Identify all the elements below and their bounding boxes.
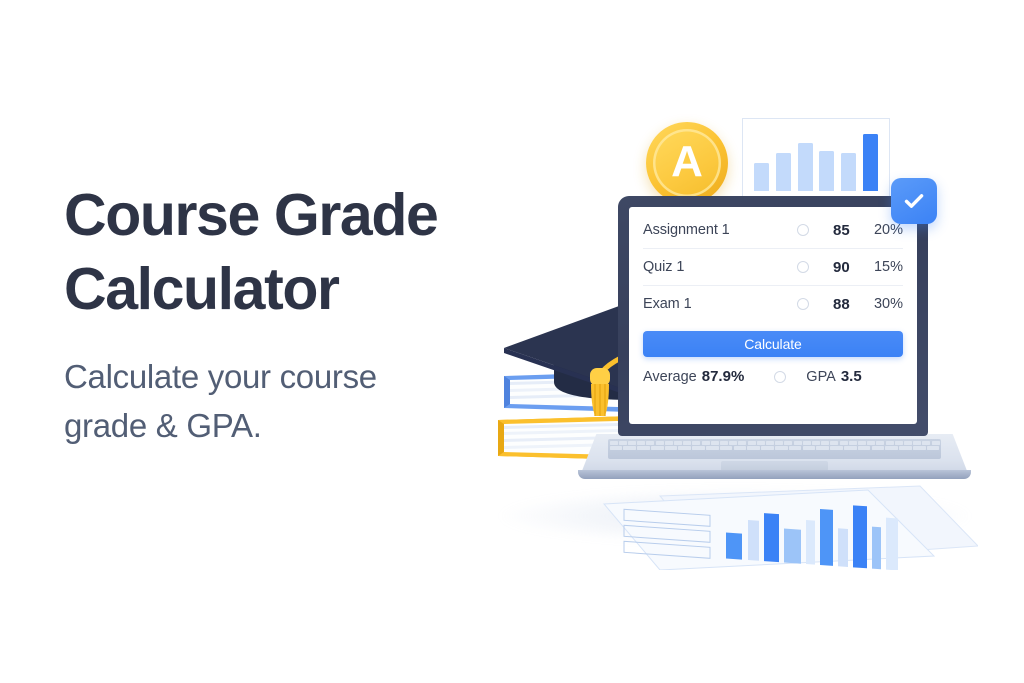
- keyboard-key: [830, 446, 843, 450]
- chart-bar: [819, 151, 834, 191]
- table-row[interactable]: Assignment 1 85 20%: [643, 212, 903, 249]
- hero-illustration: Assignment 1 85 20% Quiz 1 90 15% Exam 1…: [430, 96, 1024, 596]
- keyboard-key: [789, 446, 802, 450]
- keyboard-key: [706, 446, 719, 450]
- keyboard-key: [711, 441, 719, 445]
- keyboard-key: [895, 441, 903, 445]
- chart-bar: [776, 153, 791, 191]
- grade-letter: A: [671, 140, 703, 184]
- keyboard-key: [886, 441, 894, 445]
- keyboard-key: [872, 446, 885, 450]
- bar-chart-plot: [754, 129, 878, 191]
- keyboard-key: [619, 441, 627, 445]
- keyboard-key: [720, 446, 733, 450]
- calculate-button[interactable]: Calculate: [643, 331, 903, 357]
- keyboard-key: [628, 441, 636, 445]
- row-select-radio[interactable]: [797, 224, 809, 236]
- keyboard-key: [858, 441, 866, 445]
- gpa-value: 3.5: [841, 368, 862, 385]
- row-score-value[interactable]: 88: [833, 296, 863, 313]
- keyboard-key: [816, 446, 829, 450]
- grade-coin-icon: A: [646, 122, 728, 204]
- row-item-label: Exam 1: [643, 296, 797, 312]
- chart-bar: [798, 143, 813, 191]
- keyboard-key: [761, 446, 774, 450]
- keyboard-key: [885, 446, 898, 450]
- keyboard-key: [876, 441, 884, 445]
- chart-bar: [754, 163, 769, 191]
- keyboard-key: [692, 446, 705, 450]
- laptop-base-lip: [578, 470, 971, 479]
- laptop-keyboard: [608, 439, 941, 459]
- keyboard-key: [720, 441, 728, 445]
- keyboard-key: [830, 441, 838, 445]
- keyboard-key: [913, 446, 926, 450]
- keyboard-key: [656, 441, 664, 445]
- keyboard-key: [775, 441, 783, 445]
- result-select-radio[interactable]: [774, 371, 786, 383]
- grade-coin-inner: A: [653, 129, 721, 197]
- row-item-label: Assignment 1: [643, 222, 797, 238]
- calculator-screen: Assignment 1 85 20% Quiz 1 90 15% Exam 1…: [629, 207, 917, 424]
- keyboard-key: [784, 441, 792, 445]
- keyboard-key: [748, 441, 756, 445]
- keyboard-key: [678, 446, 691, 450]
- keyboard-key: [674, 441, 682, 445]
- keyboard-key: [812, 441, 820, 445]
- keyboard-key: [651, 446, 664, 450]
- keyboard-key: [665, 446, 678, 450]
- keyboard-key: [637, 446, 650, 450]
- row-weight-value[interactable]: 15%: [863, 259, 903, 275]
- keyboard-key: [821, 441, 829, 445]
- keyboard-key: [637, 441, 645, 445]
- keyboard-key: [803, 446, 816, 450]
- keyboard-key: [849, 441, 857, 445]
- keyboard-key: [610, 441, 618, 445]
- keyboard-key: [692, 441, 700, 445]
- laptop-lid: Assignment 1 85 20% Quiz 1 90 15% Exam 1…: [618, 196, 928, 436]
- keyboard-key: [734, 446, 747, 450]
- keyboard-key: [646, 441, 654, 445]
- row-select-radio[interactable]: [797, 298, 809, 310]
- keyboard-key: [702, 441, 710, 445]
- row-item-label: Quiz 1: [643, 259, 797, 275]
- check-icon: [891, 178, 937, 224]
- average-label: Average: [643, 369, 697, 385]
- keyboard-key: [803, 441, 811, 445]
- keyboard-key: [729, 441, 737, 445]
- keyboard-key: [927, 446, 940, 450]
- keyboard-key: [899, 446, 912, 450]
- row-weight-value[interactable]: 30%: [863, 296, 903, 312]
- table-row[interactable]: Exam 1 88 30%: [643, 286, 903, 322]
- gpa-label: GPA: [806, 369, 836, 385]
- keyboard-key: [665, 441, 673, 445]
- keyboard-key: [840, 441, 848, 445]
- keyboard-key: [683, 441, 691, 445]
- row-weight-value[interactable]: 20%: [863, 222, 903, 238]
- keyboard-key: [932, 441, 940, 445]
- keyboard-key: [867, 441, 875, 445]
- results-row: Average 87.9% GPA 3.5: [643, 368, 903, 385]
- keyboard-key: [844, 446, 857, 450]
- keyboard-key: [922, 441, 930, 445]
- keyboard-key: [766, 441, 774, 445]
- average-value: 87.9%: [702, 368, 745, 385]
- row-select-radio[interactable]: [797, 261, 809, 273]
- chart-bar: [863, 134, 878, 191]
- keyboard-key: [747, 446, 760, 450]
- calculate-button-label: Calculate: [744, 336, 801, 352]
- keyboard-key: [757, 441, 765, 445]
- table-row[interactable]: Quiz 1 90 15%: [643, 249, 903, 286]
- keyboard-key: [775, 446, 788, 450]
- keyboard-key: [794, 441, 802, 445]
- keyboard-key: [913, 441, 921, 445]
- chart-bar: [841, 153, 856, 191]
- row-score-value[interactable]: 90: [833, 259, 863, 276]
- row-score-value[interactable]: 85: [833, 222, 863, 239]
- keyboard-key: [623, 446, 636, 450]
- keyboard-key: [610, 446, 623, 450]
- bar-chart-card: [742, 118, 890, 200]
- keyboard-key: [904, 441, 912, 445]
- keyboard-key: [738, 441, 746, 445]
- keyboard-key: [858, 446, 871, 450]
